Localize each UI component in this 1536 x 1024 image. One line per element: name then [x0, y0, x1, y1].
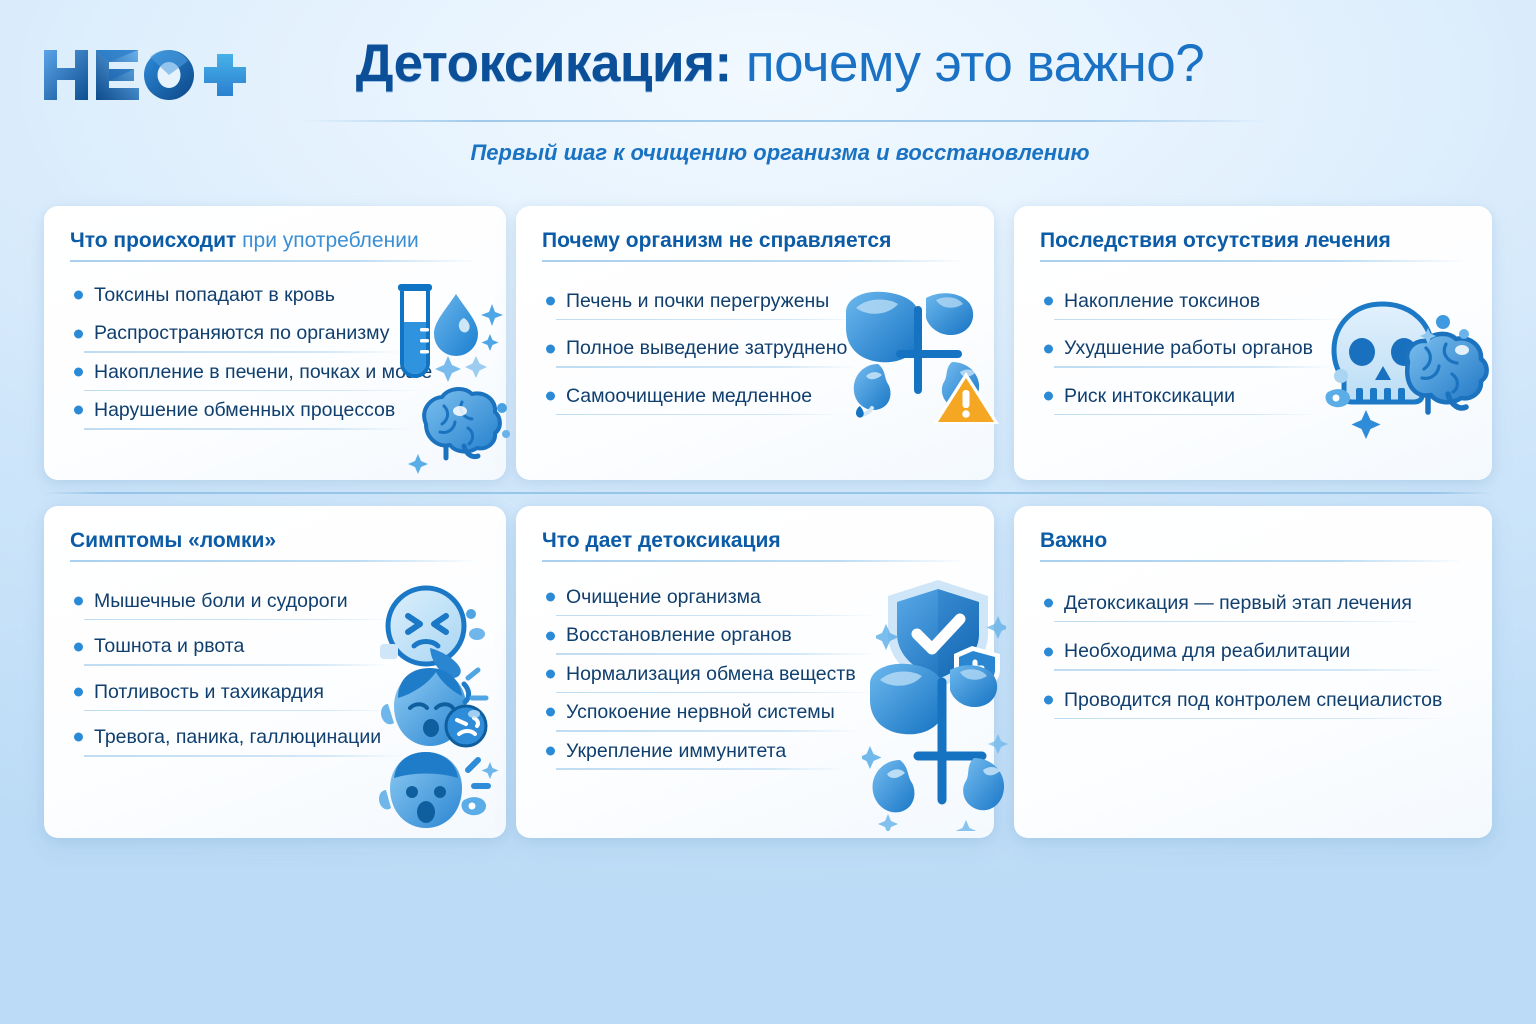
- list-separator: [84, 428, 414, 430]
- bullet-dot-icon: [74, 329, 83, 338]
- bullet-dot-icon: [1044, 647, 1053, 656]
- list-item: Токсины попадают в кровь: [70, 276, 486, 314]
- list-item: Риск интоксикации: [1040, 377, 1472, 415]
- infographic-page: Детоксикация: почему это важно? Первый ш…: [0, 0, 1536, 1024]
- list-item-label: Самоочищение медленное: [566, 377, 974, 415]
- card-title: Что происходит при употреблении: [70, 228, 480, 253]
- card-title-light: при употреблении: [236, 229, 418, 252]
- card-title-underline: [542, 560, 968, 562]
- list-item: Самоочищение медленное: [542, 377, 974, 415]
- list-item: Мышечные боли и судороги: [70, 582, 486, 620]
- title-bold-part: Детоксикация:: [356, 34, 732, 93]
- bullet-dot-icon: [546, 593, 555, 602]
- list-item-label: Детоксикация — первый этап лечения: [1064, 584, 1472, 622]
- bullet-list: Накопление токсинов Ухудшение работы орг…: [1040, 282, 1472, 415]
- list-separator: [84, 755, 406, 757]
- bullet-dot-icon: [74, 597, 83, 606]
- list-separator: [84, 710, 402, 712]
- list-item-label: Нарушение обменных процессов: [94, 391, 486, 429]
- list-item-label: Успокоение нервной системы: [566, 693, 974, 731]
- list-item: Нормализация обмена веществ: [542, 655, 974, 693]
- card-title-bold: Важно: [1040, 529, 1107, 552]
- card-title-bold: Что дает детоксикация: [542, 529, 781, 552]
- list-item-label: Тошнота и рвота: [94, 627, 486, 665]
- card-what-happens: Что происходит при употреблении Токсины …: [44, 206, 506, 480]
- list-item-label: Потливость и тахикардия: [94, 673, 486, 711]
- list-item: Укрепление иммунитета: [542, 732, 974, 770]
- list-item-label: Накопление в печени, почках и мозге: [94, 353, 486, 391]
- page-subtitle: Первый шаг к очищению организма и восста…: [280, 140, 1280, 166]
- bullet-list: Токсины попадают в кровь Распространяютс…: [70, 276, 486, 430]
- list-item: Тошнота и рвота: [70, 627, 486, 665]
- card-important: Важно Детоксикация — первый этап лечения…: [1014, 506, 1492, 838]
- bullet-list: Печень и почки перегружены Полное выведе…: [542, 282, 974, 415]
- bullet-dot-icon: [74, 406, 83, 415]
- bullet-dot-icon: [74, 687, 83, 696]
- card-title-underline: [1040, 560, 1466, 562]
- list-separator: [556, 768, 844, 770]
- bullet-list: Детоксикация — первый этап лечения Необх…: [1040, 584, 1472, 719]
- list-separator: [1054, 414, 1319, 416]
- title-light-part: почему это важно?: [732, 34, 1205, 93]
- bullet-dot-icon: [74, 733, 83, 742]
- bullet-list: Мышечные боли и судороги Тошнота и рвота…: [70, 582, 486, 757]
- card-title-bold: Что происходит: [70, 229, 236, 252]
- list-item-label: Тревога, паника, галлюцинации: [94, 718, 486, 756]
- list-item-label: Ухудшение работы органов: [1064, 329, 1472, 367]
- card-title-bold: Симптомы «ломки»: [70, 529, 276, 552]
- bullet-dot-icon: [1044, 297, 1053, 306]
- bullet-dot-icon: [74, 367, 83, 376]
- list-separator: [556, 366, 856, 368]
- list-separator: [1054, 621, 1426, 623]
- list-item-label: Накопление токсинов: [1064, 282, 1472, 320]
- bullet-dot-icon: [546, 631, 555, 640]
- list-item-label: Распространяются по организму: [94, 314, 486, 352]
- list-item-label: Печень и почки перегружены: [566, 282, 974, 320]
- list-item: Восстановление органов: [542, 616, 974, 654]
- card-title: Почему организм не справляется: [542, 228, 968, 253]
- brand-logo: [42, 44, 247, 106]
- card-title-bold: Последствия отсутствия лечения: [1040, 229, 1391, 252]
- bullet-dot-icon: [74, 291, 83, 300]
- bullet-dot-icon: [1044, 391, 1053, 400]
- list-item: Детоксикация — первый этап лечения: [1040, 584, 1472, 622]
- card-detox-benefits: Что дает детоксикация Очищение организма…: [516, 506, 994, 838]
- card-title: Важно: [1040, 528, 1466, 553]
- row-divider: [44, 492, 1492, 494]
- list-separator: [84, 664, 390, 666]
- bullet-list: Очищение организма Восстановление органо…: [542, 578, 974, 770]
- card-consequences: Последствия отсутствия лечения Накоплени…: [1014, 206, 1492, 480]
- list-item-label: Мышечные боли и судороги: [94, 582, 486, 620]
- bullet-dot-icon: [1044, 599, 1053, 608]
- card-title-underline: [1040, 260, 1466, 262]
- bullet-dot-icon: [1044, 344, 1053, 353]
- list-item: Накопление токсинов: [1040, 282, 1472, 320]
- list-item-label: Восстановление органов: [566, 616, 974, 654]
- list-item: Распространяются по организму: [70, 314, 486, 352]
- list-item: Потливость и тахикардия: [70, 673, 486, 711]
- list-item: Очищение организма: [542, 578, 974, 616]
- list-item: Успокоение нервной системы: [542, 693, 974, 731]
- card-title: Симптомы «ломки»: [70, 528, 480, 553]
- bullet-dot-icon: [74, 642, 83, 651]
- bullet-dot-icon: [546, 297, 555, 306]
- list-item-label: Необходима для реабилитации: [1064, 632, 1472, 670]
- list-item: Нарушение обменных процессов: [70, 391, 486, 429]
- list-item: Проводится под контролем специалистов: [1040, 681, 1472, 719]
- list-item: Ухудшение работы органов: [1040, 329, 1472, 367]
- bullet-dot-icon: [546, 746, 555, 755]
- card-title-underline: [70, 560, 480, 562]
- list-separator: [1054, 366, 1332, 368]
- list-separator: [556, 319, 868, 321]
- list-item-label: Проводится под контролем специалистов: [1064, 681, 1472, 719]
- page-title: Детоксикация: почему это важно?: [280, 36, 1280, 91]
- list-item: Необходима для реабилитации: [1040, 632, 1472, 670]
- list-item-label: Очищение организма: [566, 578, 974, 616]
- header: Детоксикация: почему это важно? Первый ш…: [0, 0, 1536, 190]
- list-separator: [1054, 718, 1450, 720]
- neo-plus-logo-icon: [42, 44, 247, 106]
- list-item-label: Укрепление иммунитета: [566, 732, 974, 770]
- list-separator: [84, 619, 398, 621]
- list-separator: [556, 414, 844, 416]
- list-item: Полное выведение затруднено: [542, 329, 974, 367]
- bullet-dot-icon: [546, 344, 555, 353]
- bullet-dot-icon: [546, 669, 555, 678]
- card-title-bold: Почему организм не справляется: [542, 229, 891, 252]
- list-item: Тревога, паника, галлюцинации: [70, 718, 486, 756]
- card-title: Что дает детоксикация: [542, 528, 968, 553]
- list-item-label: Нормализация обмена веществ: [566, 655, 974, 693]
- bullet-dot-icon: [546, 391, 555, 400]
- list-separator: [1054, 319, 1346, 321]
- card-title-underline: [542, 260, 968, 262]
- bullet-dot-icon: [1044, 695, 1053, 704]
- list-item: Накопление в печени, почках и мозге: [70, 353, 486, 391]
- list-separator: [1054, 669, 1446, 671]
- bullet-dot-icon: [546, 708, 555, 717]
- title-divider: [300, 120, 1270, 122]
- card-title: Последствия отсутствия лечения: [1040, 228, 1466, 253]
- list-item-label: Полное выведение затруднено: [566, 329, 974, 367]
- list-item: Печень и почки перегружены: [542, 282, 974, 320]
- card-withdrawal-symptoms: Симптомы «ломки» Мышечные боли и судорог…: [44, 506, 506, 838]
- card-title-underline: [70, 260, 480, 262]
- list-item-label: Риск интоксикации: [1064, 377, 1472, 415]
- list-item-label: Токсины попадают в кровь: [94, 276, 486, 314]
- card-why-body-fails: Почему организм не справляется Печень и …: [516, 206, 994, 480]
